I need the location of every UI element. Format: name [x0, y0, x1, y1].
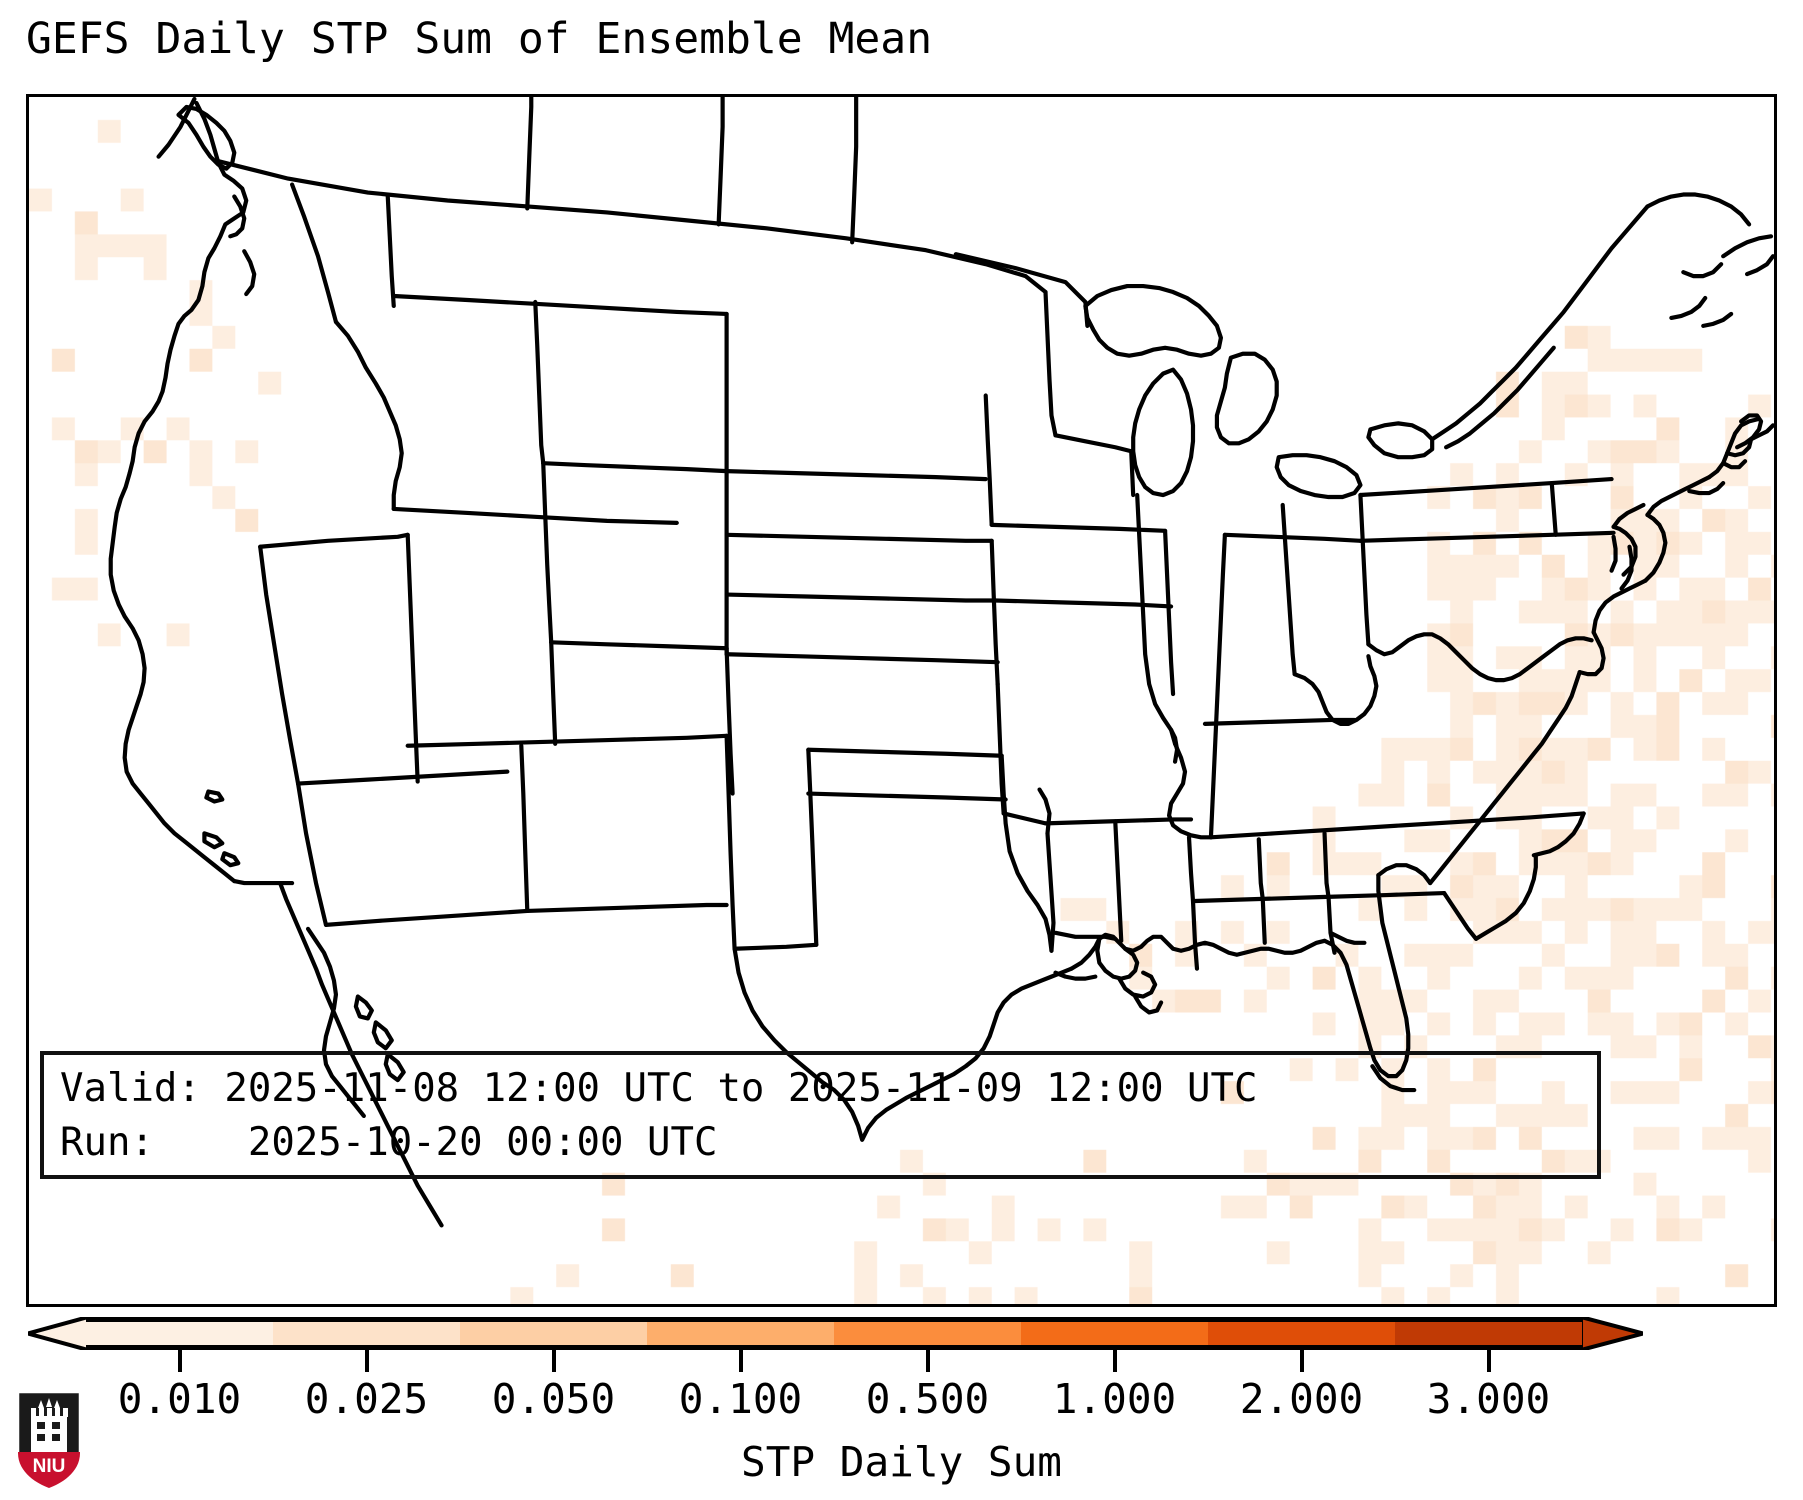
colorbar-segment-6: [1208, 1322, 1395, 1345]
colorbar-tick-label-5: 1.000: [1053, 1375, 1176, 1423]
colorbar-segment-1: [273, 1322, 460, 1345]
page-title: GEFS Daily STP Sum of Ensemble Mean: [26, 14, 932, 64]
niu-logo: NIU: [16, 1390, 82, 1490]
colorbar-tick-6: [1300, 1350, 1304, 1372]
niu-wordmark: NIU: [33, 1456, 66, 1477]
colorbar-tick-label-6: 2.000: [1240, 1375, 1363, 1423]
colorbar-extend-min-arrow: [28, 1317, 88, 1350]
colorbar-segment-4: [834, 1322, 1021, 1345]
colorbar-tick-7: [1487, 1350, 1491, 1372]
run-time-text: Run: 2025-10-20 00:00 UTC: [60, 1123, 717, 1162]
colorbar-extend-max-arrow: [1581, 1317, 1643, 1350]
colorbar-tick-3: [739, 1350, 743, 1372]
colorbar-tick-label-2: 0.050: [492, 1375, 615, 1423]
colorbar-tick-label-0: 0.010: [118, 1375, 241, 1423]
valid-time-text: Valid: 2025-11-08 12:00 UTC to 2025-11-0…: [60, 1069, 1257, 1108]
colorbar-tick-5: [1113, 1350, 1117, 1372]
colorbar-tick-label-4: 0.500: [866, 1375, 989, 1423]
colorbar-tick-4: [926, 1350, 930, 1372]
colorbar-segment-5: [1021, 1322, 1208, 1345]
colorbar-tick-0: [178, 1350, 182, 1372]
colorbar-tick-label-7: 3.000: [1427, 1375, 1550, 1423]
colorbar-tick-1: [365, 1350, 369, 1372]
colorbar-tick-2: [552, 1350, 556, 1372]
colorbar-axis-label: STP Daily Sum: [0, 1438, 1803, 1486]
forecast-info-box: Valid: 2025-11-08 12:00 UTC to 2025-11-0…: [40, 1051, 1601, 1179]
colorbar-gradient: [86, 1317, 1582, 1350]
colorbar-segment-7: [1395, 1322, 1582, 1345]
colorbar-segment-3: [647, 1322, 834, 1345]
colorbar-segment-0: [86, 1322, 273, 1345]
colorbar-tick-label-1: 0.025: [305, 1375, 428, 1423]
colorbar-segment-2: [460, 1322, 647, 1345]
colorbar-tick-label-3: 0.100: [679, 1375, 802, 1423]
